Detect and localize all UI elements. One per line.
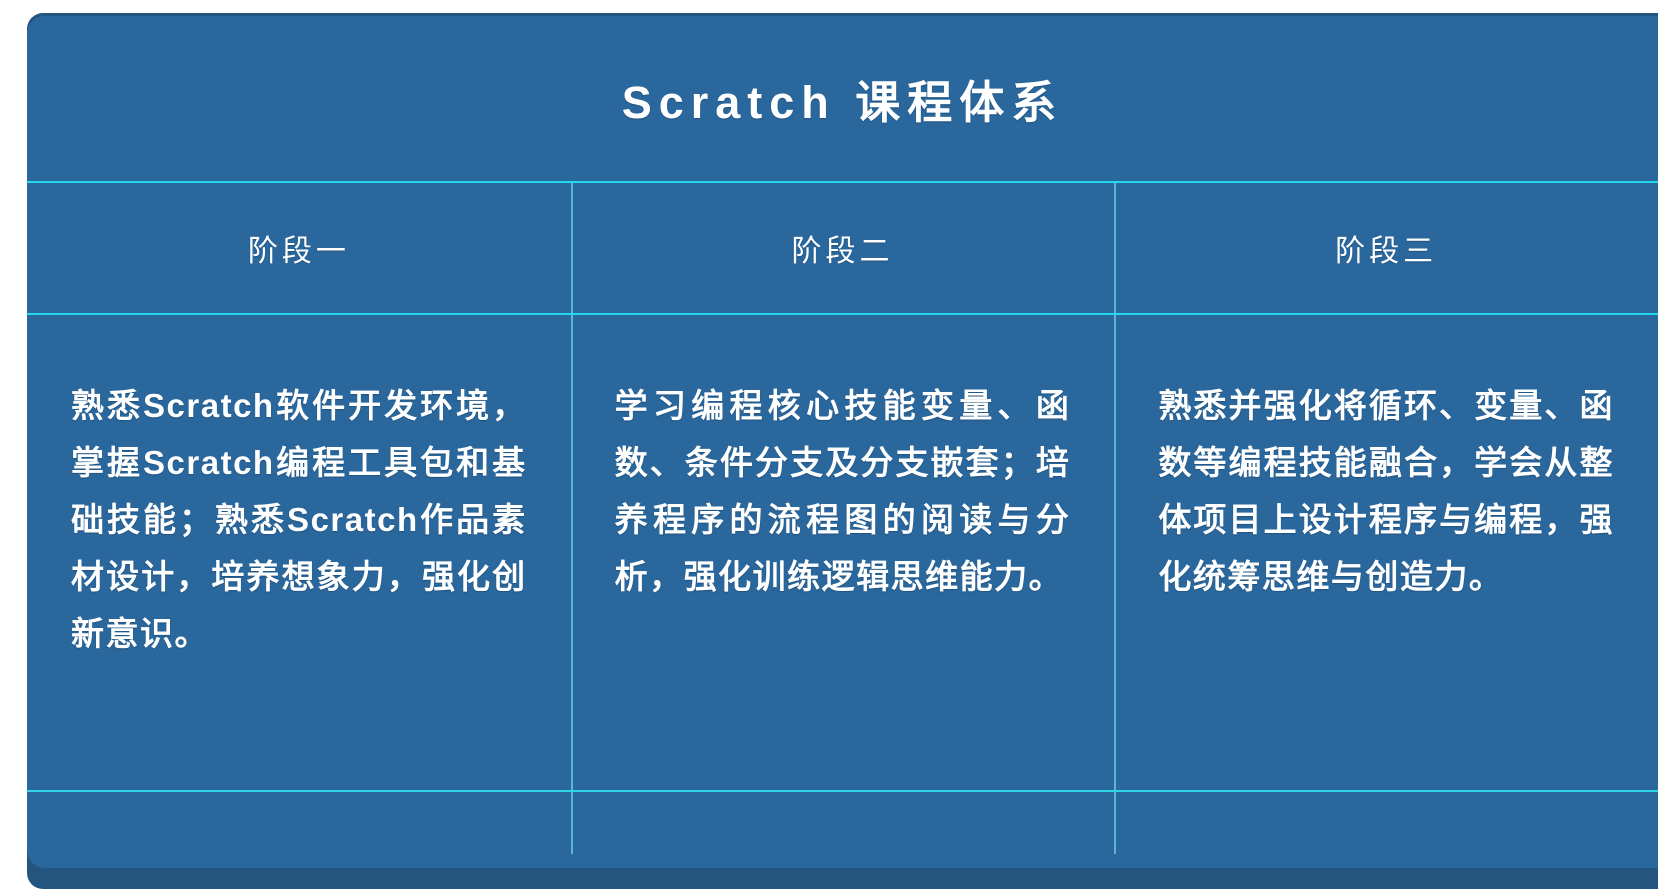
table-header-cell-stage-1: 阶段一 — [27, 183, 571, 313]
table-body-row: 熟悉Scratch软件开发环境，掌握Scratch编程工具包和基础技能；熟悉Sc… — [27, 315, 1658, 790]
table-body-cell-stage-2: 学习编程核心技能变量、函数、条件分支及分支嵌套；培养程序的流程图的阅读与分析，强… — [571, 315, 1115, 790]
title-band: Scratch 课程体系 — [27, 16, 1658, 181]
table-body-cell-stage-3: 熟悉并强化将循环、变量、函数等编程技能融合，学会从整体项目上设计程序与编程，强化… — [1114, 315, 1658, 790]
table-header-cell-stage-2: 阶段二 — [571, 183, 1115, 313]
stage-1-description: 熟悉Scratch软件开发环境，掌握Scratch编程工具包和基础技能；熟悉Sc… — [71, 377, 527, 662]
stage-1-label: 阶段一 — [248, 226, 350, 270]
stage-2-label: 阶段二 — [791, 226, 893, 270]
table-footer-cell-1 — [27, 792, 571, 854]
page-title: Scratch 课程体系 — [622, 66, 1064, 131]
footer-cell-1-text — [27, 792, 571, 854]
slide-frame: Scratch 课程体系 阶段一 阶段二 阶段三 熟悉Scratch软件开发环境… — [27, 13, 1658, 889]
footer-cell-2-text — [571, 792, 1115, 854]
stage-2-description: 学习编程核心技能变量、函数、条件分支及分支嵌套；培养程序的流程图的阅读与分析，强… — [615, 377, 1071, 605]
table-footer-cell-2 — [571, 792, 1115, 854]
stage-3-description: 熟悉并强化将循环、变量、函数等编程技能融合，学会从整体项目上设计程序与编程，强化… — [1158, 377, 1614, 605]
course-system-table: Scratch 课程体系 阶段一 阶段二 阶段三 熟悉Scratch软件开发环境… — [27, 16, 1658, 868]
table-footer-row — [27, 792, 1658, 854]
table-body-cell-stage-1: 熟悉Scratch软件开发环境，掌握Scratch编程工具包和基础技能；熟悉Sc… — [27, 315, 571, 790]
table-header-cell-stage-3: 阶段三 — [1114, 183, 1658, 313]
table-footer-cell-3 — [1114, 792, 1658, 854]
footer-cell-3-text — [1114, 792, 1658, 854]
table-header-row: 阶段一 阶段二 阶段三 — [27, 183, 1658, 313]
stage-3-label: 阶段三 — [1335, 226, 1437, 270]
